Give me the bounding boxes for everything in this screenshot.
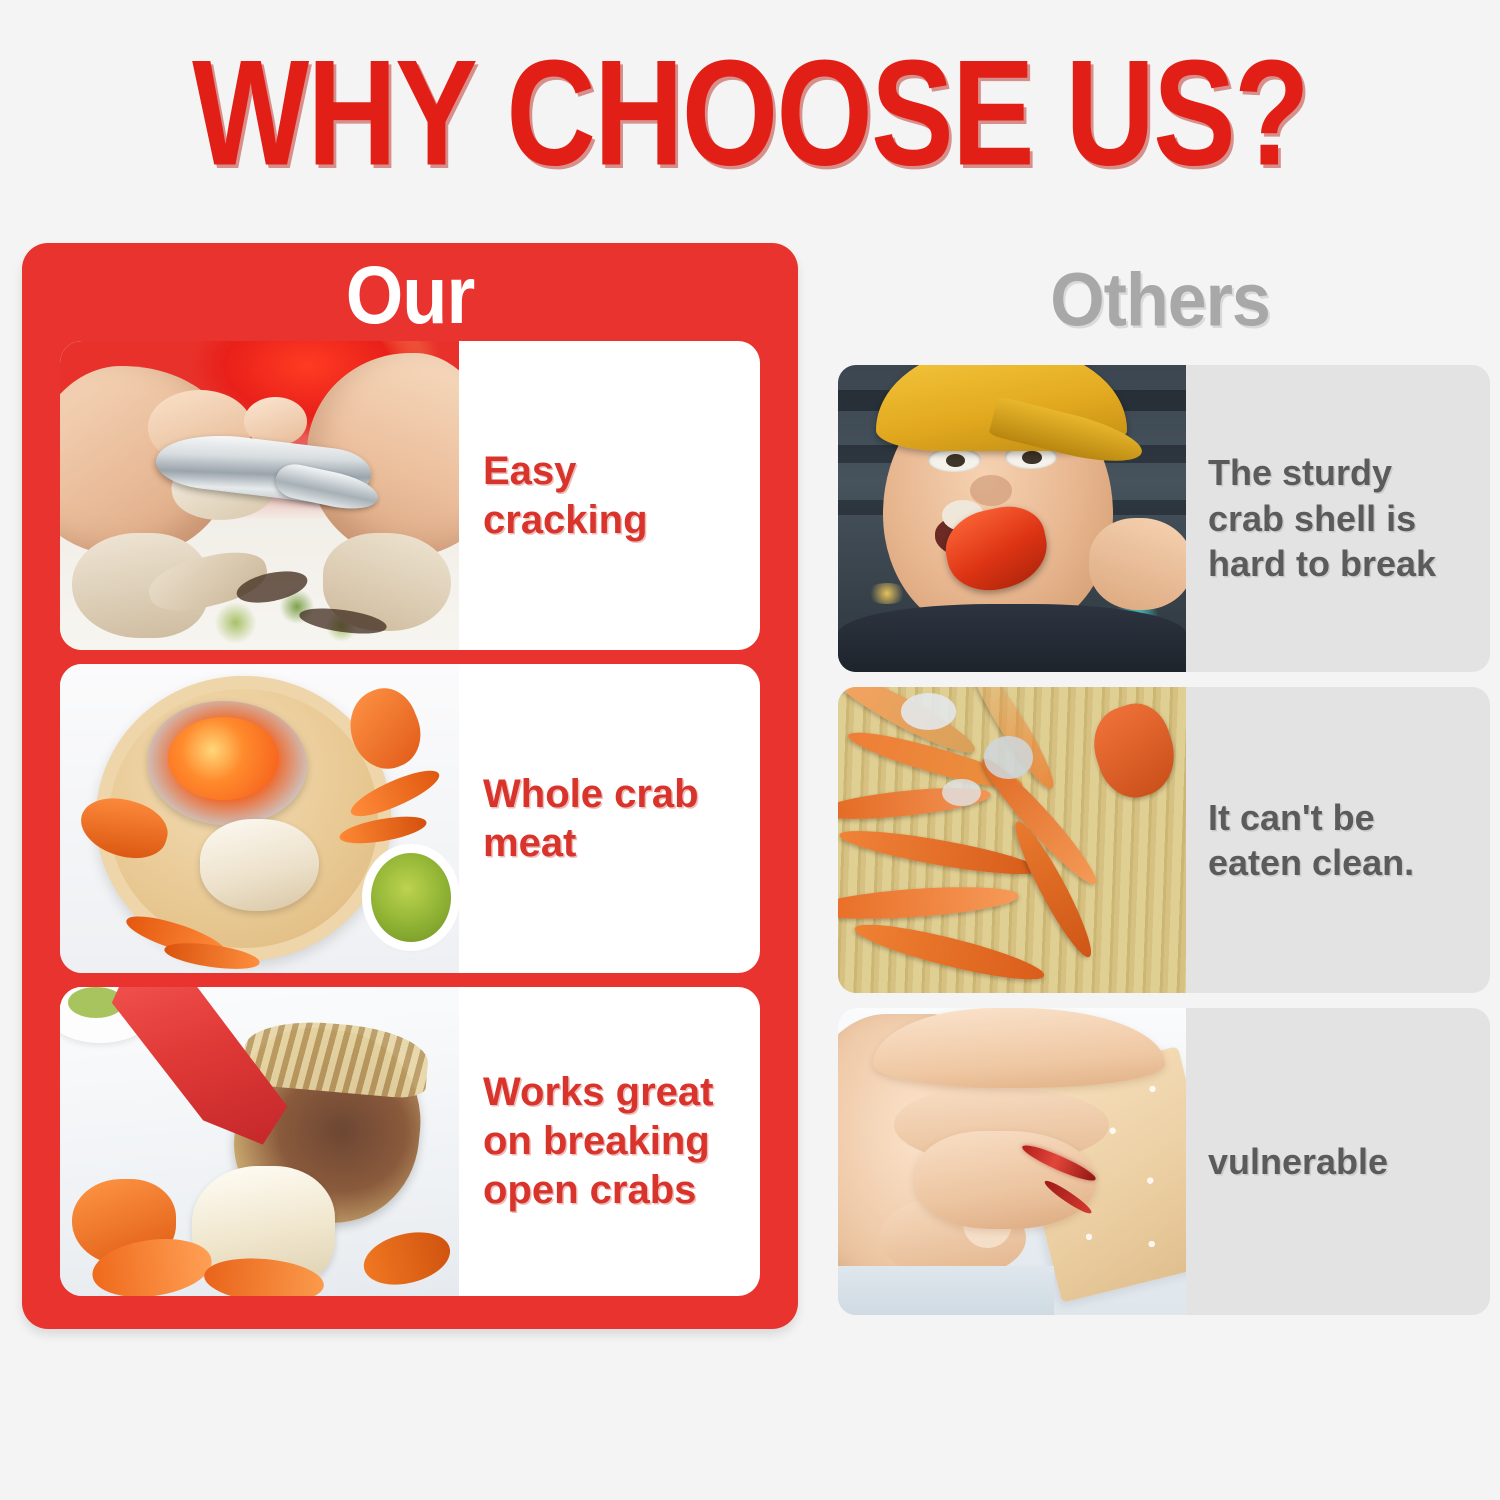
other-row-label: The sturdy crab shell is hard to break [1186,365,1490,672]
other-row-not-clean: It can't be eaten clean. [838,687,1490,994]
others-rows: The sturdy crab shell is hard to break I… [838,365,1490,1315]
other-row-label: vulnerable [1186,1008,1490,1315]
other-row-sturdy-shell: The sturdy crab shell is hard to break [838,365,1490,672]
others-heading: Others [830,262,1490,338]
our-row-label: Works great on breaking open crabs [459,987,760,1296]
hands-using-metal-crab-cracker-photo [60,341,459,650]
page-title: WHY CHOOSE US? [45,38,1455,188]
cut-finger-with-bandage-photo [838,1008,1186,1315]
our-heading: Our [22,255,798,336]
our-rows: Easy cracking Whole crab meat [60,341,760,1296]
our-row-easy-cracking: Easy cracking [60,341,760,650]
our-row-label: Whole crab meat [459,664,760,973]
our-row-whole-crab-meat: Whole crab meat [60,664,760,973]
red-tool-prying-open-crab-photo [60,987,459,1296]
crab-legs-on-bamboo-mat-photo [838,687,1186,994]
other-row-label: It can't be eaten clean. [1186,687,1490,994]
other-row-vulnerable: vulnerable [838,1008,1490,1315]
our-row-label: Easy cracking [459,341,760,650]
whole-crab-on-wooden-plate-photo [60,664,459,973]
man-biting-crab-claw-photo [838,365,1186,672]
our-panel: Our Easy cracking [22,243,798,1329]
our-row-works-great: Works great on breaking open crabs [60,987,760,1296]
